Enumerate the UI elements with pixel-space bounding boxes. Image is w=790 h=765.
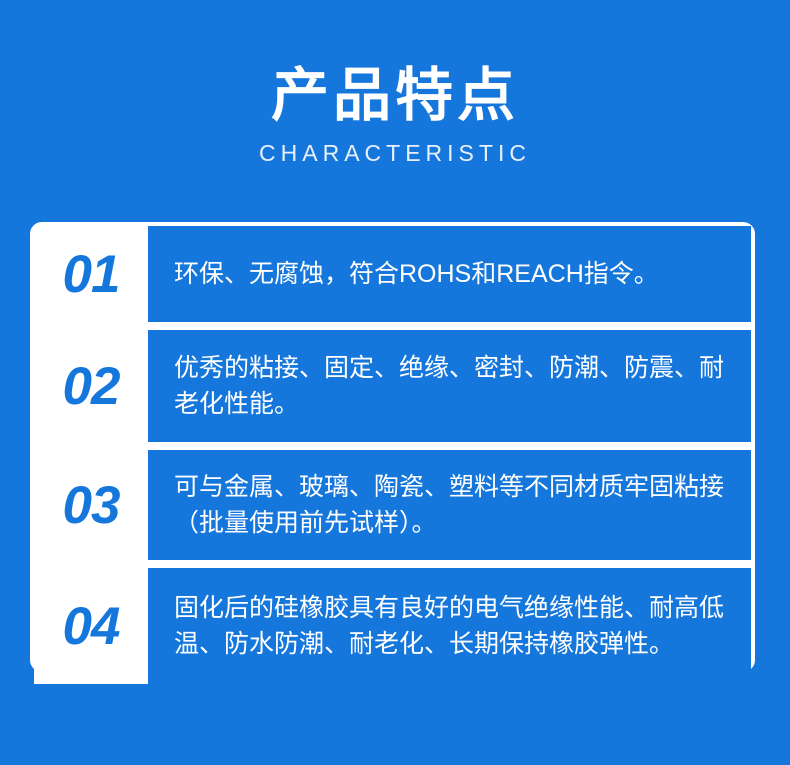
- feature-row: 固化后的硅橡胶具有良好的电气绝缘性能、耐高低温、防水防潮、耐老化、长期保持橡胶弹…: [148, 568, 751, 684]
- feature-number-01: 01: [34, 226, 148, 322]
- feature-text-01: 环保、无腐蚀，符合ROHS和REACH指令。: [174, 256, 659, 292]
- feature-text-02: 优秀的粘接、固定、绝缘、密封、防潮、防震、耐老化性能。: [174, 350, 739, 422]
- product-characteristics-banner: 产品特点 CHARACTERISTIC 01 02 03 04 环保、无腐蚀，符…: [0, 0, 790, 765]
- feature-number-03: 03: [34, 450, 148, 560]
- number-separator: [34, 442, 148, 450]
- header: 产品特点 CHARACTERISTIC: [0, 62, 790, 168]
- features-card: 01 02 03 04 环保、无腐蚀，符合ROHS和REACH指令。 优秀的粘接…: [30, 222, 755, 672]
- row-separator: [148, 442, 751, 450]
- feature-row: 可与金属、玻璃、陶瓷、塑料等不同材质牢固粘接（批量使用前先试样）。: [148, 450, 751, 560]
- feature-number-02: 02: [34, 330, 148, 442]
- feature-row: 环保、无腐蚀，符合ROHS和REACH指令。: [148, 226, 751, 322]
- number-separator: [34, 322, 148, 330]
- feature-number-04: 04: [34, 568, 148, 684]
- feature-number-column: 01 02 03 04: [34, 226, 148, 668]
- feature-text-04: 固化后的硅橡胶具有良好的电气绝缘性能、耐高低温、防水防潮、耐老化、长期保持橡胶弹…: [174, 590, 739, 662]
- page-title: 产品特点: [0, 62, 790, 130]
- number-separator: [34, 560, 148, 568]
- feature-row: 优秀的粘接、固定、绝缘、密封、防潮、防震、耐老化性能。: [148, 330, 751, 442]
- feature-text-column: 环保、无腐蚀，符合ROHS和REACH指令。 优秀的粘接、固定、绝缘、密封、防潮…: [148, 226, 751, 668]
- row-separator: [148, 560, 751, 568]
- feature-text-03: 可与金属、玻璃、陶瓷、塑料等不同材质牢固粘接（批量使用前先试样）。: [174, 469, 739, 541]
- page-subtitle: CHARACTERISTIC: [0, 138, 790, 168]
- row-separator: [148, 322, 751, 330]
